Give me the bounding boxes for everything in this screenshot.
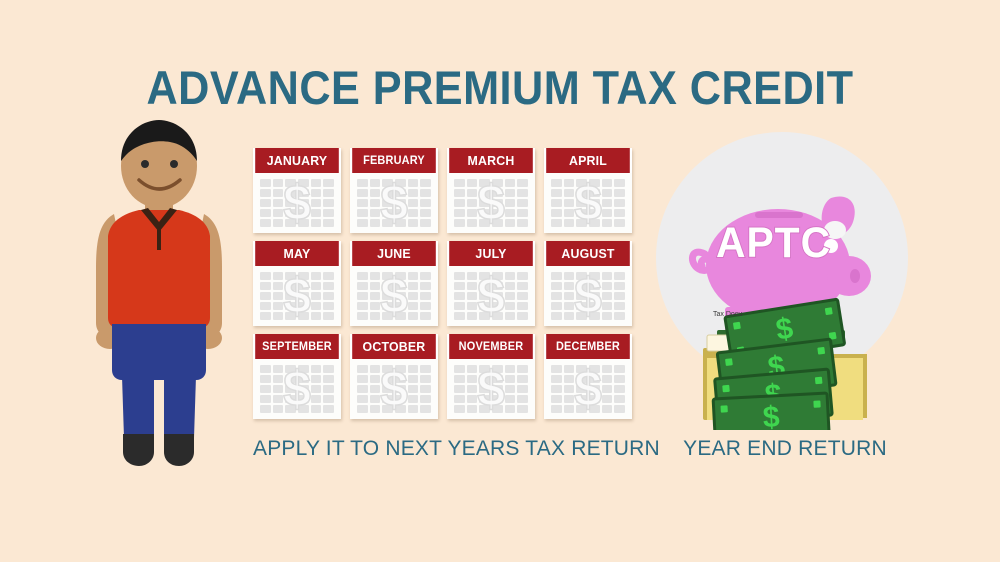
dollar-sign-icon: $ bbox=[447, 173, 535, 233]
calendar-body: $ bbox=[253, 173, 341, 233]
calendar-card-february[interactable]: FEBRUARY $ bbox=[350, 148, 438, 233]
calendar-month-label: NOVEMBER bbox=[449, 334, 533, 359]
person-figure bbox=[84, 118, 234, 468]
calendar-card-november[interactable]: NOVEMBER $ bbox=[447, 334, 535, 419]
calendar-card-october[interactable]: OCTOBER $ bbox=[350, 334, 438, 419]
calendar-body: $ bbox=[253, 266, 341, 326]
dollar-sign-icon: $ bbox=[544, 266, 632, 326]
shirt bbox=[108, 208, 210, 328]
calendar-body: $ bbox=[544, 173, 632, 233]
calendar-card-december[interactable]: DECEMBER $ bbox=[544, 334, 632, 419]
calendar-body: $ bbox=[350, 266, 438, 326]
calendar-card-september[interactable]: SEPTEMBER $ bbox=[253, 334, 341, 419]
dollar-sign-icon: $ bbox=[253, 359, 341, 419]
calendar-card-august[interactable]: AUGUST $ bbox=[544, 241, 632, 326]
calendar-body: $ bbox=[544, 266, 632, 326]
calendar-body: $ bbox=[447, 173, 535, 233]
calendar-body: $ bbox=[447, 266, 535, 326]
money-bills: $ $ $ bbox=[713, 299, 845, 430]
svg-text:$: $ bbox=[762, 401, 781, 430]
calendar-month-label: OCTOBER bbox=[352, 334, 436, 359]
calendar-month-label: JUNE bbox=[352, 241, 436, 266]
dollar-sign-icon: $ bbox=[253, 173, 341, 233]
dollar-sign-icon: $ bbox=[350, 359, 438, 419]
dollar-sign-icon: $ bbox=[544, 359, 632, 419]
caption-apply-next-year: APPLY IT TO NEXT YEARS TAX RETURN bbox=[253, 437, 631, 461]
calendar-month-label: JULY bbox=[449, 241, 533, 266]
calendar-month-label: SEPTEMBER bbox=[255, 334, 339, 359]
dollar-sign-icon: $ bbox=[544, 173, 632, 233]
calendar-card-march[interactable]: MARCH $ bbox=[447, 148, 535, 233]
calendar-month-label: DECEMBER bbox=[546, 334, 630, 359]
calendar-card-april[interactable]: APRIL $ bbox=[544, 148, 632, 233]
calendar-month-label: MARCH bbox=[449, 148, 533, 173]
monthly-calendar-grid: JANUARY $ FEBRUARY $ MARCH $ APRIL bbox=[253, 148, 631, 425]
calendar-card-july[interactable]: JULY $ bbox=[447, 241, 535, 326]
year-end-return-illustration: $ $ $ bbox=[645, 130, 920, 430]
calendar-card-june[interactable]: JUNE $ bbox=[350, 241, 438, 326]
head bbox=[121, 120, 197, 208]
calendar-month-label: AUGUST bbox=[546, 241, 630, 266]
folder-tab-label: Tax Docu bbox=[713, 311, 751, 318]
calendar-month-label: JANUARY bbox=[255, 148, 339, 173]
dollar-sign-icon: $ bbox=[447, 266, 535, 326]
calendar-body: $ bbox=[350, 173, 438, 233]
dollar-sign-icon: $ bbox=[253, 266, 341, 326]
dollar-sign-icon: $ bbox=[447, 359, 535, 419]
calendar-body: $ bbox=[253, 359, 341, 419]
caption-year-end-return: YEAR END RETURN bbox=[660, 437, 910, 461]
calendar-month-label: FEBRUARY bbox=[352, 148, 436, 173]
calendar-body: $ bbox=[447, 359, 535, 419]
page-title: ADVANCE PREMIUM TAX CREDIT bbox=[40, 60, 960, 115]
calendar-month-label: MAY bbox=[255, 241, 339, 266]
dollar-sign-icon: $ bbox=[350, 266, 438, 326]
illustration-canvas: ADVANCE PREMIUM TAX CREDIT bbox=[0, 0, 1000, 562]
calendar-body: $ bbox=[350, 359, 438, 419]
calendar-month-label: APRIL bbox=[546, 148, 630, 173]
calendar-card-january[interactable]: JANUARY $ bbox=[253, 148, 341, 233]
shoes bbox=[123, 434, 194, 466]
calendar-body: $ bbox=[544, 359, 632, 419]
pants bbox=[112, 324, 206, 438]
dollar-sign-icon: $ bbox=[350, 173, 438, 233]
calendar-card-may[interactable]: MAY $ bbox=[253, 241, 341, 326]
